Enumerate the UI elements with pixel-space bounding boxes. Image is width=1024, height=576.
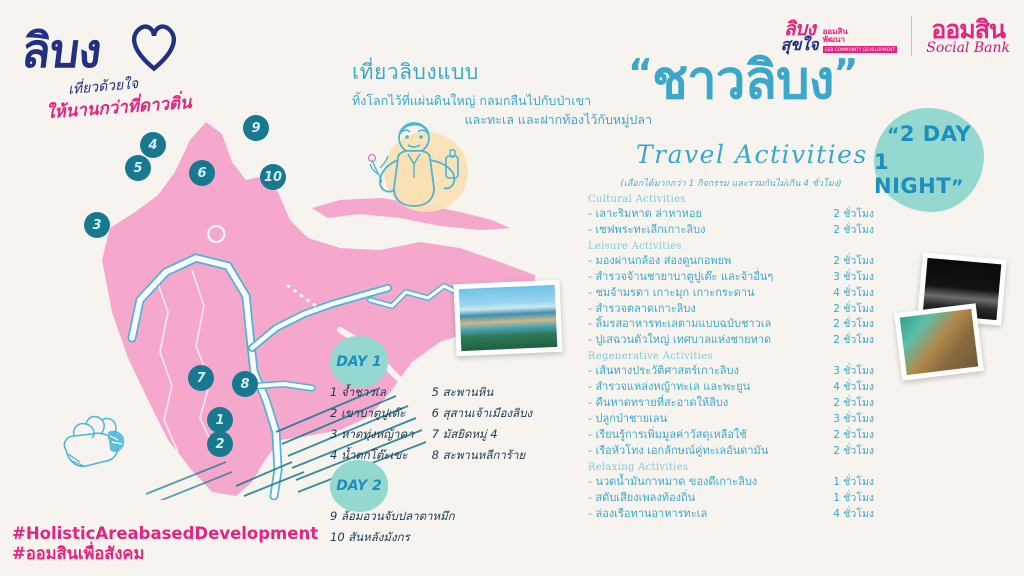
rocky-shore-photo-image: [900, 309, 979, 375]
list-item: 6 สุสานเจ้าเมืองลิบง: [432, 405, 532, 423]
activity-row: - สำรวจตลาดเกาะลิบง2 ชั่วโมง: [588, 301, 874, 317]
day2-place-list: 9 ล้อมอวนจับปลาตาหมึก 10 สันหลังมังกร: [330, 508, 560, 547]
activity-row: - เลาะริมหาด ล่าหาหอย2 ชั่วโมง: [588, 206, 874, 222]
quote-open: “: [628, 51, 652, 95]
activity-name: - เรือหัวโทง เอกลักษณ์คู่ทะเลอันดามัน: [588, 443, 768, 459]
day1-place-list: 1 จ้ำชาวเล 2 เขาบาตูปูเต๊ะ 3 หาดทุ่งหญ้า…: [330, 384, 560, 465]
beach-lagoon-photo-image: [459, 285, 558, 351]
activity-duration: 3 ชั่วโมง: [833, 270, 874, 285]
activity-duration: 2 ชั่วโมง: [833, 396, 874, 411]
libong-sukjai-logo: ลิบง สุขใจ: [781, 20, 819, 53]
map-marker-1[interactable]: 1: [207, 407, 233, 433]
activity-row: - ปูเสฉวนตัวใหญ่ เทศบาลแห่งชายหาด2 ชั่วโ…: [588, 332, 874, 348]
map-marker-6[interactable]: 6: [189, 160, 215, 186]
map-marker-4-label: 4: [148, 138, 157, 153]
activity-group-title: Relaxing Activities: [588, 462, 874, 473]
activity-duration: 2 ชั่วโมง: [833, 254, 874, 269]
gsb-community-logo: ออมสิน พัฒนา GSB COMMUNITY DEVELOPMENT: [823, 28, 898, 53]
activity-duration: 4 ชั่วโมง: [833, 286, 874, 301]
infographic-poster: ลิบง เที่ยวด้วยใจ ให้นานกว่าที่ดาวติ่น ล…: [0, 0, 1024, 576]
activity-name: - ปลูกป่าชายเลน: [588, 411, 667, 427]
hashtag-block: #HolisticAreabasedDevelopment #ออมสินเพื…: [12, 524, 318, 565]
map-marker-2[interactable]: 2: [207, 431, 233, 457]
gsb-logo-en: Social Bank: [926, 41, 1010, 55]
day1-label: DAY 1: [336, 354, 382, 370]
beach-lagoon-photo: [453, 280, 562, 357]
map-marker-10-label: 10: [264, 170, 282, 185]
map-marker-3-label: 3: [92, 218, 101, 233]
list-item: 9 ล้อมอวนจับปลาตาหมึก: [330, 508, 560, 526]
map-marker-5-label: 5: [133, 161, 142, 176]
activity-name: - เลาะริมหาด ล่าหาหอย: [588, 206, 702, 222]
activity-duration: 2 ชั่วโมง: [833, 207, 874, 222]
duration-badge: “2 DAY 1 NIGHT”: [874, 108, 984, 212]
logo-divider: [911, 16, 912, 56]
activity-row: - เซฟพระทะเลีกเกาะลิบง2 ชั่วโมง: [588, 222, 874, 238]
activity-name: - สำรวจจ้านชายาบาตูปูเต๊ะ และจ้าอื่นๆ: [588, 269, 773, 285]
badge-nights: 1 NIGHT: [874, 150, 951, 198]
list-item: 7 มัสยิดหมู่ 4: [432, 426, 532, 444]
activity-group-title: Regenerative Activities: [588, 351, 874, 362]
page-title: “ชาวลิบง”: [628, 54, 857, 107]
activity-row: - เรียนรู้การเพิ่มมูลค่าวัสดุเหลือใช้2 ช…: [588, 427, 874, 443]
activity-duration: 1 ชั่วโมง: [833, 491, 874, 506]
activity-name: - ชมจ้ามรดา เกาะมุก เกาะกระดาน: [588, 285, 755, 301]
activity-name: - มองผ่านกล้อง ส่องดูนกอพยพ: [588, 253, 731, 269]
activity-group-title: Cultural Activities: [588, 194, 874, 205]
hashtag-1: #HolisticAreabasedDevelopment: [12, 524, 318, 544]
activity-duration: 4 ชั่วโมง: [833, 380, 874, 395]
gsb-social-bank-logo: ออมสิน Social Bank: [926, 17, 1010, 55]
map-marker-5[interactable]: 5: [125, 155, 151, 181]
activity-name: - นวดน้ำมันกาหมาด ของดีเกาะลิบง: [588, 474, 757, 490]
map-marker-9-label: 9: [251, 121, 260, 136]
badge-days: 2 DAY: [900, 122, 971, 146]
day1-column-1: 1 จ้ำชาวเล 2 เขาบาตูปูเต๊ะ 3 หาดทุ่งหญ้า…: [330, 384, 414, 465]
local-partner-logo: ลิบง สุขใจ ออมสิน พัฒนา GSB COMMUNITY DE…: [781, 20, 898, 53]
activity-row: - เส้นทางประวัติศาสตร์เกาะลิบง3 ชั่วโมง: [588, 363, 874, 379]
activity-name: - สำรวจแหล่งหญ้าทะเล และพะยูน: [588, 379, 750, 395]
map-marker-2-label: 2: [215, 437, 224, 452]
map-marker-8[interactable]: 8: [232, 371, 258, 397]
quote-close: ”: [833, 51, 857, 95]
tourist-illustration: [368, 110, 480, 218]
activity-row: - ปลูกป่าชายเลน3 ชั่วโมง: [588, 411, 874, 427]
activity-duration: 2 ชั่วโมง: [833, 302, 874, 317]
activity-row: - สดับเสียงเพลงท้องถิ่น1 ชั่วโมง: [588, 490, 874, 506]
activity-name: - เรียนรู้การเพิ่มมูลค่าวัสดุเหลือใช้: [588, 427, 747, 443]
heart-outline-icon: [128, 22, 180, 72]
activity-name: - เส้นทางประวัติศาสตร์เกาะลิบง: [588, 363, 739, 379]
activity-row: - นวดน้ำมันกาหมาด ของดีเกาะลิบง1 ชั่วโมง: [588, 474, 874, 490]
gsb-community-line2: พัฒนา: [823, 36, 898, 44]
activity-row: - คืนหาดทรายที่สะอาดให้ลิบง2 ชั่วโมง: [588, 395, 874, 411]
map-marker-10[interactable]: 10: [260, 164, 286, 190]
day2-badge: DAY 2: [330, 460, 388, 512]
activities-note: (เลือกได้มากกว่า 1 กิจกรรม และรวมกันไม่เ…: [588, 176, 874, 190]
headline-line-1: เที่ยวลิบงแบบ: [352, 56, 652, 89]
list-item: 3 หาดทุ่งหญ้าคา: [330, 426, 414, 444]
map-marker-3[interactable]: 3: [84, 212, 110, 238]
activity-row: - สำรวจจ้านชายาบาตูปูเต๊ะ และจ้าอื่นๆ3 ช…: [588, 269, 874, 285]
day1-badge: DAY 1: [330, 336, 388, 388]
activity-name: - สำรวจตลาดเกาะลิบง: [588, 301, 696, 317]
gsb-logo-thai: ออมสิน: [926, 17, 1010, 42]
activity-name: - เซฟพระทะเลีกเกาะลิบง: [588, 222, 705, 238]
activity-duration: 2 ชั่วโมง: [833, 444, 874, 459]
day1-column-2: 5 สะพานหิน 6 สุสานเจ้าเมืองลิบง 7 มัสยิด…: [432, 384, 532, 465]
activity-row: - ลิ้มรสอาหารทะเลตามแบบฉบับชาวเล2 ชั่วโม…: [588, 316, 874, 332]
activity-duration: 3 ชั่วโมง: [833, 412, 874, 427]
list-item: 10 สันหลังมังกร: [330, 529, 560, 547]
activity-duration: 3 ชั่วโมง: [833, 364, 874, 379]
list-item: 2 เขาบาตูปูเต๊ะ: [330, 405, 414, 423]
day2-label: DAY 2: [336, 478, 382, 494]
activity-duration: 2 ชั่วโมง: [833, 223, 874, 238]
activity-name: - ลิ้มรสอาหารทะเลตามแบบฉบับชาวเล: [588, 316, 771, 332]
badge-quote-close: ”: [951, 176, 964, 198]
activity-duration: 2 ชั่วโมง: [833, 428, 874, 443]
map-marker-8-label: 8: [240, 377, 249, 392]
map-marker-7[interactable]: 7: [188, 365, 214, 391]
list-item: 5 สะพานหิน: [432, 384, 532, 402]
duration-badge-line1: “2 DAY: [887, 122, 971, 146]
page-title-text: ชาวลิบง: [652, 50, 834, 111]
activity-duration: 2 ชั่วโมง: [833, 317, 874, 332]
map-marker-9[interactable]: 9: [243, 115, 269, 141]
activity-row: - ชมจ้ามรดา เกาะมุก เกาะกระดาน4 ชั่วโมง: [588, 285, 874, 301]
rocky-shore-photo: [894, 303, 984, 380]
activities-groups: Cultural Activities- เลาะริมหาด ล่าหาหอย…: [588, 194, 874, 521]
brand-logo-thai: ลิบง: [19, 28, 103, 75]
map-marker-4[interactable]: 4: [140, 132, 166, 158]
activity-row: - สำรวจแหล่งหญ้าทะเล และพะยูน4 ชั่วโมง: [588, 379, 874, 395]
activity-duration: 4 ชั่วโมง: [833, 507, 874, 522]
map-marker-1-label: 1: [215, 413, 224, 428]
list-item: 8 สะพานหลีการ้าย: [432, 447, 532, 465]
activities-list: (เลือกได้มากกว่า 1 กิจกรรม และรวมกันไม่เ…: [588, 176, 874, 521]
activity-group-title: Leisure Activities: [588, 241, 874, 252]
badge-quote-open: “: [887, 124, 900, 146]
hand-holding-shell-illustration: [56, 406, 142, 480]
hashtag-2: #ออมสินเพื่อสังคม: [12, 544, 318, 564]
duration-badge-line2: 1 NIGHT”: [874, 150, 984, 198]
map-marker-6-label: 6: [197, 166, 206, 181]
activity-row: - มองผ่านกล้อง ส่องดูนกอพยพ2 ชั่วโมง: [588, 253, 874, 269]
list-item: 1 จ้ำชาวเล: [330, 384, 414, 402]
activity-name: - คืนหาดทรายที่สะอาดให้ลิบง: [588, 395, 728, 411]
activity-name: - ปูเสฉวนตัวใหญ่ เทศบาลแห่งชายหาด: [588, 332, 771, 348]
activity-duration: 1 ชั่วโมง: [833, 475, 874, 490]
map-marker-7-label: 7: [196, 371, 205, 386]
activity-name: - ล่องเรือทานอาหารทะเล: [588, 506, 707, 522]
activity-duration: 2 ชั่วโมง: [833, 333, 874, 348]
activity-row: - ล่องเรือทานอาหารทะเล4 ชั่วโมง: [588, 506, 874, 522]
activity-row: - เรือหัวโทง เอกลักษณ์คู่ทะเลอันดามัน2 ช…: [588, 443, 874, 459]
activity-name: - สดับเสียงเพลงท้องถิ่น: [588, 490, 695, 506]
